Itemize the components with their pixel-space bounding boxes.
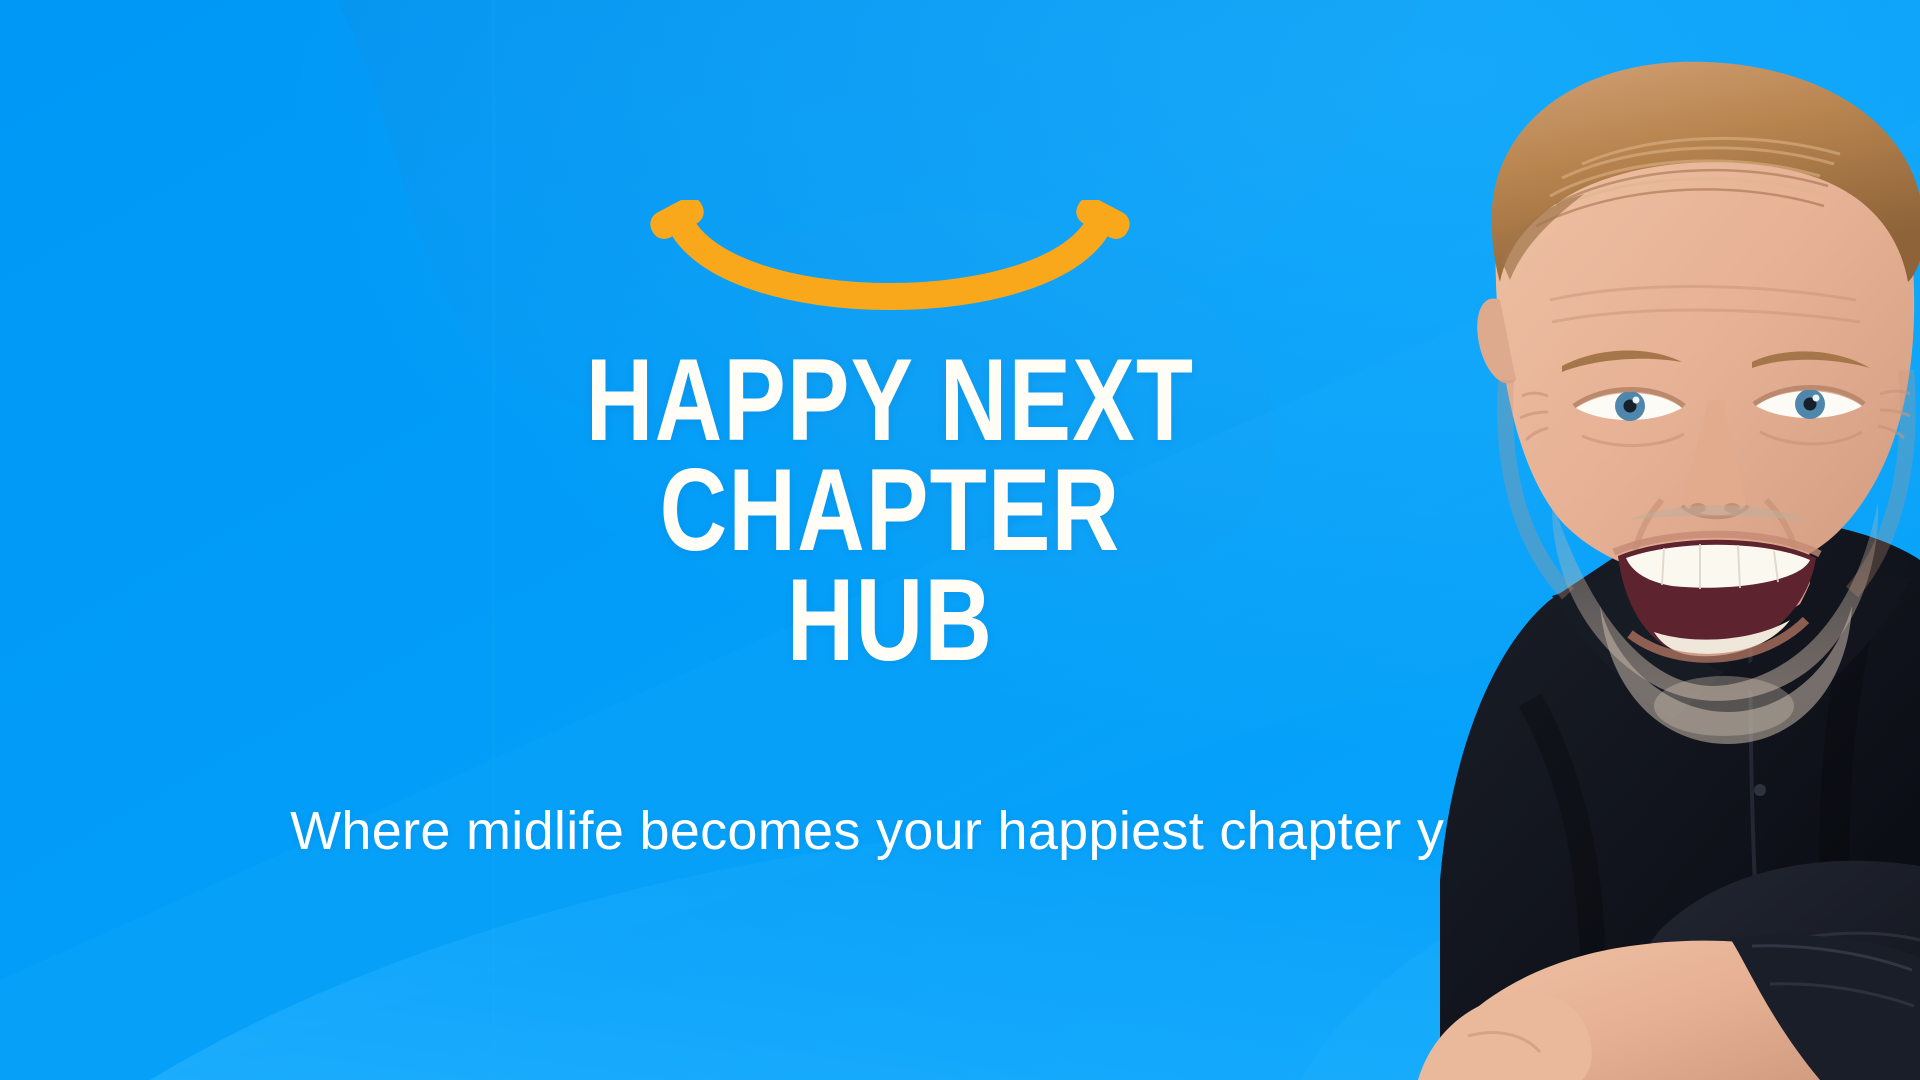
title-line-2: CHAPTER	[178, 455, 1602, 565]
title-line-3: HUB	[178, 565, 1602, 675]
hero-subtitle: Where midlife becomes your happiest chap…	[0, 800, 1780, 862]
title-line-1: HAPPY NEXT	[178, 345, 1602, 455]
hero-banner: HAPPY NEXT CHAPTER HUB Where midlife bec…	[0, 0, 1920, 1080]
smile-curve-icon	[645, 200, 1135, 315]
smile-logo	[645, 200, 1135, 315]
hero-content: HAPPY NEXT CHAPTER HUB Where midlife bec…	[0, 0, 1780, 1080]
page-title: HAPPY NEXT CHAPTER HUB	[0, 345, 1780, 675]
